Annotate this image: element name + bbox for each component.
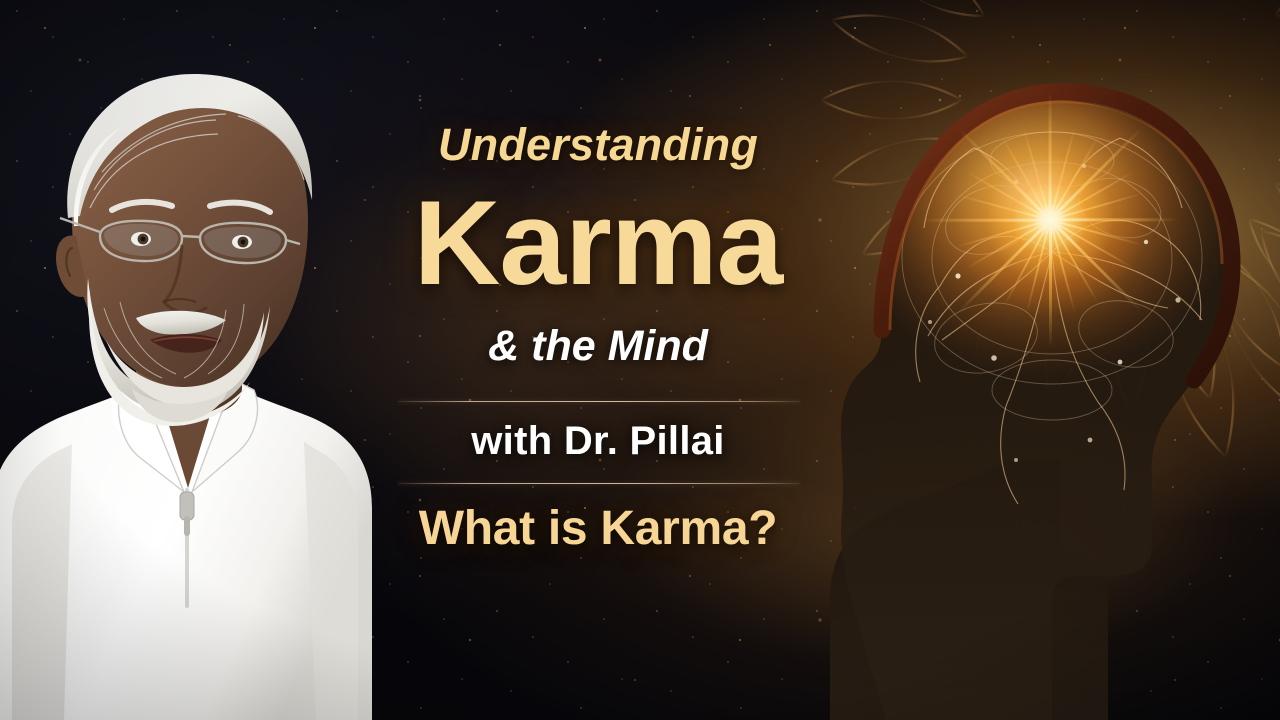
presenter-name: with Dr. Pillai xyxy=(388,421,808,461)
subtitle-text: & the Mind xyxy=(388,325,808,368)
eyebrow-text: Understanding xyxy=(388,122,808,167)
divider-top xyxy=(398,401,800,402)
page-title: Karma xyxy=(388,182,808,304)
episode-question: What is Karma? xyxy=(388,505,808,553)
thumbnail-canvas: Understanding Karma & the Mind with Dr. … xyxy=(0,0,1280,720)
title-text-block: Understanding Karma & the Mind with Dr. … xyxy=(388,0,808,720)
divider-bottom xyxy=(398,483,800,484)
